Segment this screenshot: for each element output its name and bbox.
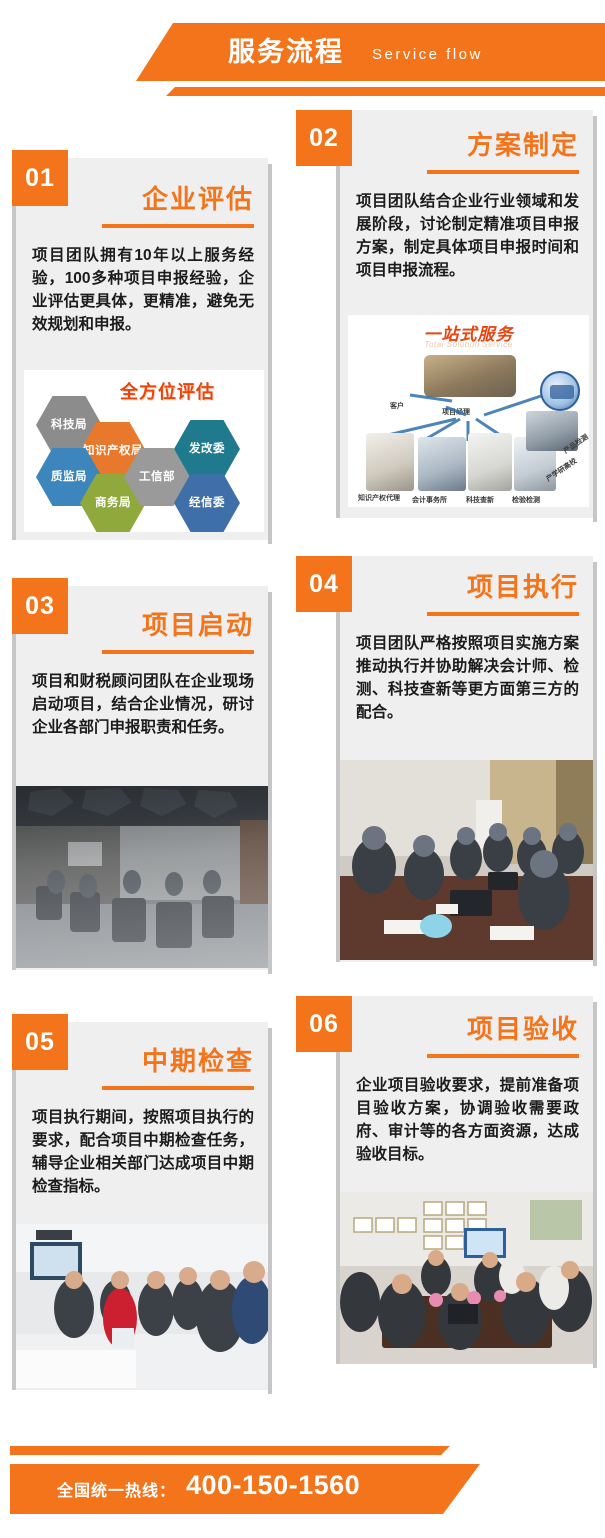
one-stop-service-label-3: 检验检测 (512, 495, 540, 505)
step-card-01: 企业评估 项目团队拥有10年以上服务经验，100多种项目申报经验，企业评估更具体… (12, 158, 268, 540)
card-photo-03 (16, 786, 268, 968)
card-title-rule-06 (427, 1054, 579, 1058)
card-title-01: 企业评估 (142, 182, 254, 216)
card-title-02: 方案制定 (467, 128, 579, 162)
one-stop-service-label-2: 科技查新 (466, 495, 494, 505)
card-body-06: 企业项目验收要求，提前准备项目验收方案，协调验收需要政府、审计等的各方面资源，达… (340, 1074, 593, 1166)
one-stop-node-search (468, 433, 512, 491)
one-stop-certification-seal (540, 371, 580, 411)
step-card-02: 方案制定 项目团队结合企业行业领域和发展阶段，讨论制定精准项目申报方案，制定具体… (336, 110, 593, 518)
card-title-rule-01 (102, 224, 254, 228)
card-body-03: 项目和财税顾问团队在企业现场启动项目，结合企业情况，研讨企业各部门申报职责和任务… (16, 670, 268, 739)
step-badge-04: 04 (296, 556, 352, 612)
step-badge-01: 01 (12, 150, 68, 206)
page-title: 服务流程 (228, 31, 344, 73)
page-header: 服务流程 Service flow (0, 0, 605, 110)
card-title-rule-05 (102, 1086, 254, 1090)
page-subtitle: Service flow (372, 42, 483, 68)
step-badge-05: 05 (12, 1014, 68, 1070)
card-title-04: 项目执行 (467, 570, 579, 604)
card-title-06: 项目验收 (467, 1012, 579, 1046)
one-stop-node-account (418, 437, 466, 491)
step-card-03: 项目启动 项目和财税顾问团队在企业现场启动项目，结合企业情况，研讨企业各部门申报… (12, 586, 268, 970)
infographic-page: 服务流程 Service flow 企业评估 项目团队拥有10年以上服务经验，1… (0, 0, 605, 1538)
card-photo-05 (16, 1224, 268, 1388)
card-title-rule-02 (427, 170, 579, 174)
step-badge-06: 06 (296, 996, 352, 1052)
step-card-06: 项目验收 企业项目验收要求，提前准备项目验收方案，协调验收需要政府、审计等的各方… (336, 996, 593, 1364)
step-card-05: 中期检查 项目执行期间，按照项目执行的要求，配合项目中期检查任务，辅导企业相关部… (12, 1022, 268, 1390)
card-photo-06 (340, 1192, 593, 1364)
one-stop-node-ip (366, 433, 414, 491)
hexagon-diagram-title: 全方位评估 (120, 378, 215, 404)
header-accent-stripe (166, 87, 605, 96)
card-body-05: 项目执行期间，按照项目执行的要求，配合项目中期检查任务，辅导企业相关部门达成项目… (16, 1106, 268, 1198)
hexagon-diagram: 全方位评估 科技局 知识产权局 质监局 商务局 工信部 发改委 经信委 (24, 370, 264, 532)
card-photo-04 (340, 760, 593, 960)
card-body-04: 项目团队严格按照项目实施方案推动执行并协助解决会计师、检测、科技查新等更方面第三… (340, 632, 593, 724)
footer-accent-stripe (10, 1446, 450, 1455)
header-banner-shape (136, 23, 605, 81)
card-title-03: 项目启动 (142, 608, 254, 642)
one-stop-service-label-1: 会计事务所 (412, 495, 447, 505)
step-badge-03: 03 (12, 578, 68, 634)
card-body-01: 项目团队拥有10年以上服务经验，100多种项目申报经验，企业评估更具体，更精准，… (16, 244, 268, 336)
one-stop-diagram: 一站式服务 Total Solution Service 客户 项目经理 (348, 315, 589, 507)
hotline-number[interactable]: 400-150-1560 (186, 1470, 360, 1501)
card-title-05: 中期检查 (142, 1044, 254, 1078)
card-title-rule-03 (102, 650, 254, 654)
page-footer: 全国统一热线： 400-150-1560 (0, 1398, 605, 1538)
card-body-02: 项目团队结合企业行业领域和发展阶段，讨论制定精准项目申报方案，制定具体项目申报时… (340, 190, 593, 282)
hotline-label: 全国统一热线： (57, 1477, 176, 1501)
step-badge-02: 02 (296, 110, 352, 166)
step-card-04: 项目执行 项目团队严格按照项目实施方案推动执行并协助解决会计师、检测、科技查新等… (336, 556, 593, 962)
one-stop-service-label-0: 知识产权代理 (358, 493, 400, 503)
card-title-rule-04 (427, 612, 579, 616)
